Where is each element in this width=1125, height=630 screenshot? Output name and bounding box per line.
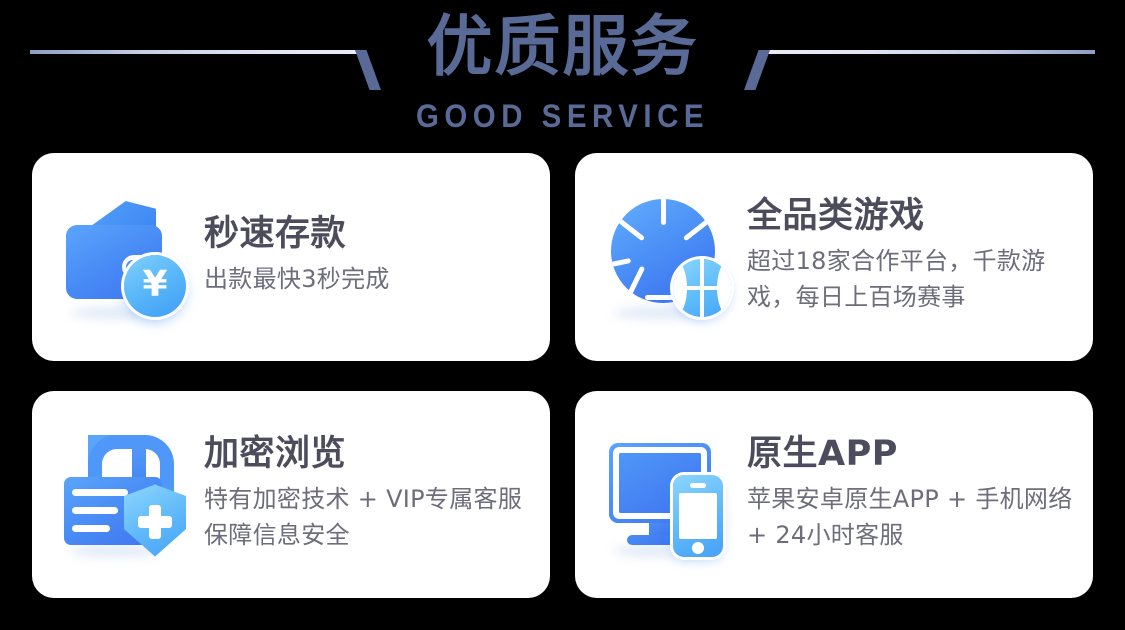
basketball-curve [673, 259, 687, 317]
lock-slot [72, 489, 128, 496]
feature-title: 全品类游戏 [747, 195, 1075, 237]
phone-home-button-icon [692, 542, 704, 554]
feature-title: 加密浏览 [204, 433, 532, 475]
feature-card-encryption[interactable]: 加密浏览 特有加密技术 + VIP专属客服保障信息安全 [32, 391, 550, 598]
feature-title: 秒速存款 [204, 213, 532, 255]
soccer-seam [611, 258, 631, 269]
feature-card-deposit[interactable]: ¥ 秒速存款 出款最快3秒完成 [32, 153, 550, 361]
yen-coin-icon: ¥ [124, 255, 186, 317]
phone-icon [673, 475, 723, 557]
lock-slot [72, 507, 118, 514]
soccer-seam [617, 218, 645, 242]
feature-card-games[interactable]: 全品类游戏 超过18家合作平台，千款游戏，每日上百场赛事 [575, 153, 1093, 361]
feature-description: 超过18家合作平台，千款游戏，每日上百场赛事 [747, 243, 1075, 315]
soccer-seam [683, 218, 711, 242]
basketball-curve [717, 259, 731, 317]
wallet-yen-icon: ¥ [62, 193, 190, 321]
banner-header: 优质服务 GOOD SERVICE [0, 0, 1125, 150]
basketball-icon [673, 259, 731, 317]
feature-card-text: 秒速存款 出款最快3秒完成 [190, 213, 532, 301]
soccer-basketball-icon [605, 193, 733, 321]
feature-card-text: 原生APP 苹果安卓原生APP + 手机网络 + 24小时客服 [733, 433, 1075, 557]
yen-symbol: ¥ [142, 267, 167, 303]
feature-card-text: 加密浏览 特有加密技术 + VIP专属客服保障信息安全 [190, 433, 532, 557]
phone-screen-icon [679, 493, 717, 539]
lock-slot [72, 525, 110, 532]
monitor-phone-icon [605, 431, 733, 559]
cross-icon [138, 516, 172, 528]
promo-banner: 优质服务 GOOD SERVICE ¥ 秒速存款 出款最快3秒完成 [0, 0, 1125, 630]
feature-card-native-app[interactable]: 原生APP 苹果安卓原生APP + 手机网络 + 24小时客服 [575, 391, 1093, 598]
page-subtitle: GOOD SERVICE [45, 99, 1080, 133]
soccer-seam [661, 199, 666, 225]
feature-description: 苹果安卓原生APP + 手机网络 + 24小时客服 [747, 481, 1075, 553]
soccer-seam [626, 266, 645, 299]
feature-description: 特有加密技术 + VIP专属客服保障信息安全 [204, 481, 532, 553]
feature-title: 原生APP [747, 433, 1075, 475]
feature-card-grid: ¥ 秒速存款 出款最快3秒完成 [32, 153, 1093, 598]
lock-shield-icon [62, 431, 190, 559]
feature-card-text: 全品类游戏 超过18家合作平台，千款游戏，每日上百场赛事 [733, 195, 1075, 319]
page-title: 优质服务 [0, 8, 1125, 86]
phone-speaker-icon [690, 483, 706, 488]
feature-description: 出款最快3秒完成 [204, 261, 532, 297]
